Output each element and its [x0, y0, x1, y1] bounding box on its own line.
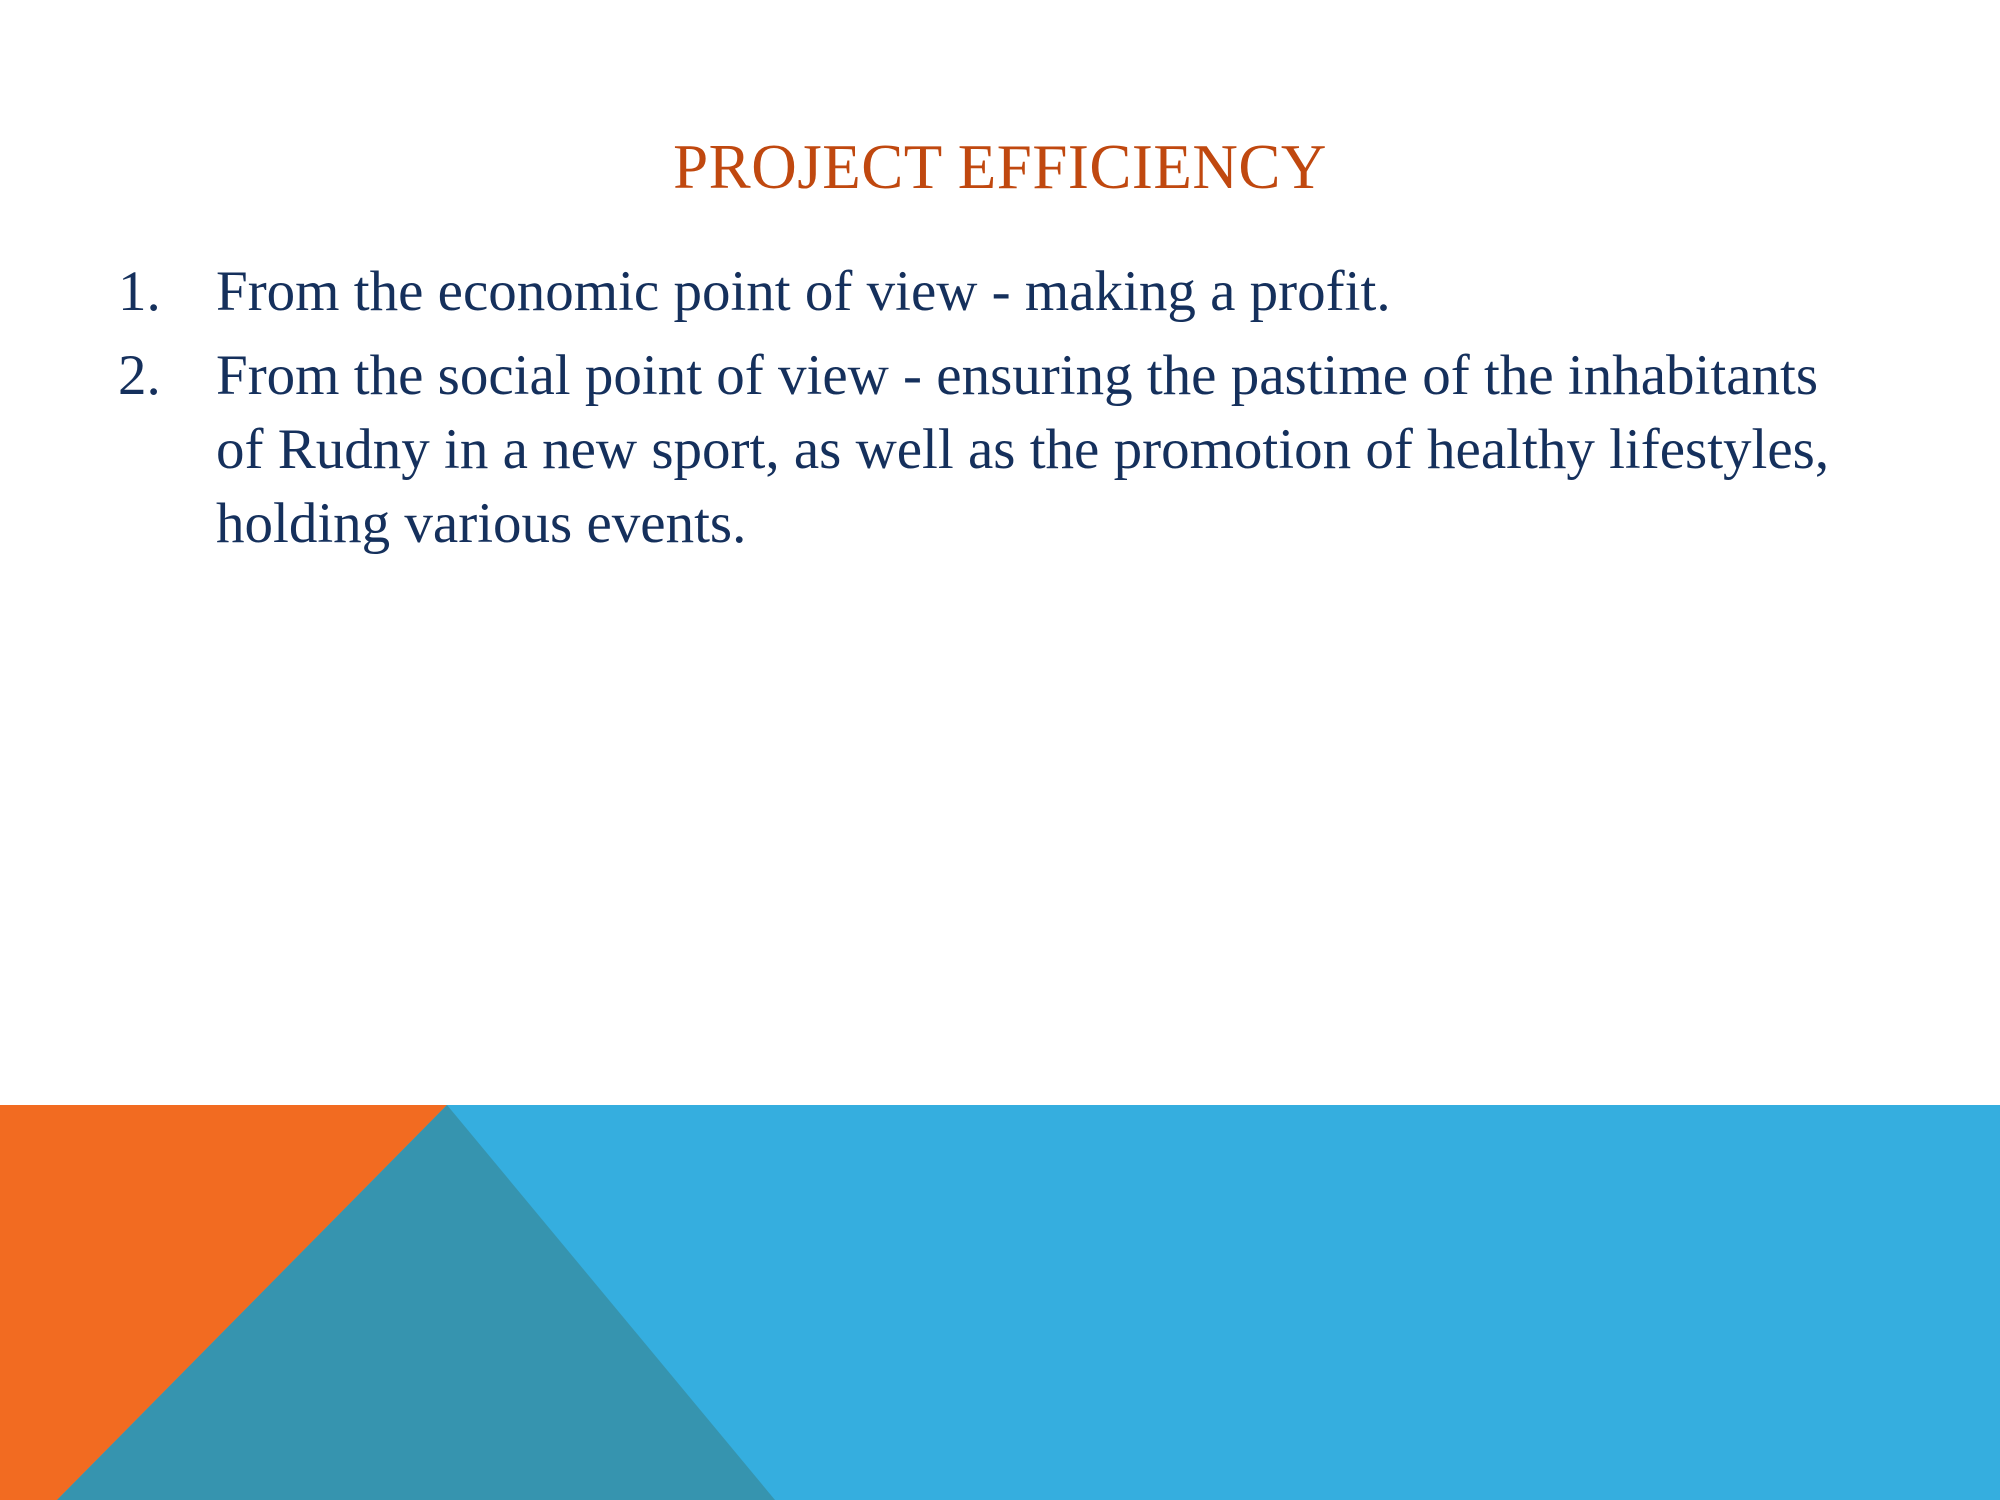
bottom-angle-band: [0, 1105, 2000, 1500]
numbered-list: 1. From the economic point of view - mak…: [118, 255, 1878, 571]
list-item-text: From the economic point of view - making…: [216, 255, 1846, 329]
presentation-slide: PROJECT EFFICIENCY 1. From the economic …: [0, 0, 2000, 1500]
list-item-text: From the social point of view - ensuring…: [216, 339, 1846, 561]
page-title: PROJECT EFFICIENCY: [0, 134, 2000, 200]
list-item: 1. From the economic point of view - mak…: [118, 255, 1878, 329]
list-item-marker: 2.: [118, 339, 216, 413]
decorative-shapes: [0, 1105, 2000, 1500]
list-item-marker: 1.: [118, 255, 216, 329]
list-item: 2. From the social point of view - ensur…: [118, 339, 1878, 561]
